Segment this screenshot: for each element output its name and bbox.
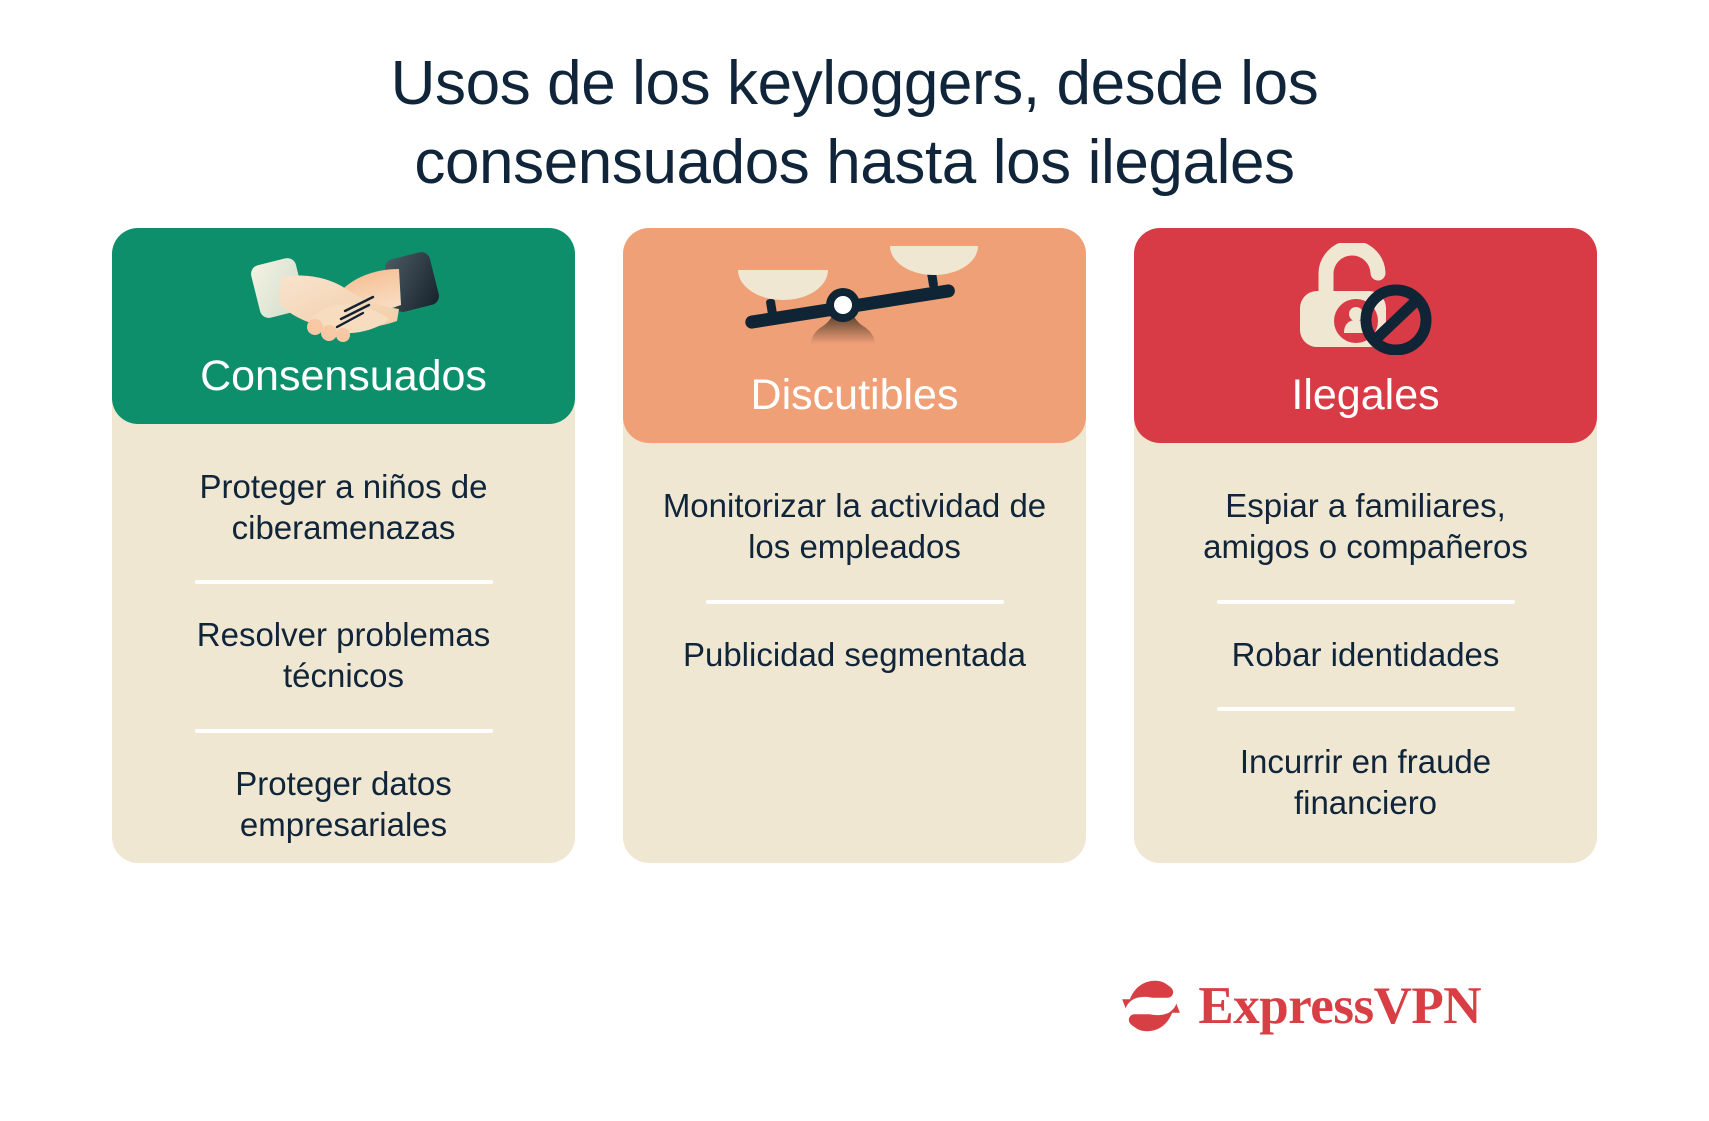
column-label: Discutibles xyxy=(751,374,959,443)
column-label: Ilegales xyxy=(1291,374,1439,443)
balance-scale-icon xyxy=(623,244,1086,354)
page-title: Usos de los keyloggers, desde los consen… xyxy=(0,44,1709,203)
expressvpn-logo: ExpressVPN xyxy=(1118,973,1481,1039)
list-divider xyxy=(195,729,493,733)
logo-text: ExpressVPN xyxy=(1198,980,1481,1033)
infographic-page: Usos de los keyloggers, desde los consen… xyxy=(0,0,1709,1121)
column-body-ilegales: Espiar a familiares, amigos o compañeros… xyxy=(1134,443,1597,863)
list-divider xyxy=(1217,600,1515,604)
list-item: Resolver problemas técnicos xyxy=(140,598,547,715)
list-item: Proteger a niños de ciberamenazas xyxy=(140,450,547,567)
list-item: Espiar a familiares, amigos o compañeros xyxy=(1162,469,1569,586)
unlocked-padlock-prohibited-icon xyxy=(1134,244,1597,354)
column-body-consensuados: Proteger a niños de ciberamenazas Resolv… xyxy=(112,424,575,864)
column-header-discutibles: Discutibles xyxy=(623,228,1086,443)
column-ilegales: Ilegales Espiar a familiares, amigos o c… xyxy=(1134,228,1597,863)
list-divider xyxy=(1217,707,1515,711)
column-header-consensuados: Consensuados xyxy=(112,228,575,424)
column-header-ilegales: Ilegales xyxy=(1134,228,1597,443)
column-body-discutibles: Monitorizar la actividad de los empleado… xyxy=(623,443,1086,863)
column-label: Consensuados xyxy=(200,355,487,424)
columns-container: Consensuados Proteger a niños de ciberam… xyxy=(112,228,1597,863)
list-item: Proteger datos empresariales xyxy=(140,747,547,864)
expressvpn-e-mark-icon xyxy=(1118,973,1184,1039)
list-item: Publicidad segmentada xyxy=(651,618,1058,693)
list-divider xyxy=(706,600,1004,604)
column-discutibles: Discutibles Monitorizar la actividad de … xyxy=(623,228,1086,863)
handshake-icon xyxy=(112,244,575,354)
list-item: Robar identidades xyxy=(1162,618,1569,693)
column-consensuados: Consensuados Proteger a niños de ciberam… xyxy=(112,228,575,863)
list-item: Incurrir en fraude financiero xyxy=(1162,725,1569,842)
list-item: Monitorizar la actividad de los empleado… xyxy=(651,469,1058,586)
list-divider xyxy=(195,580,493,584)
